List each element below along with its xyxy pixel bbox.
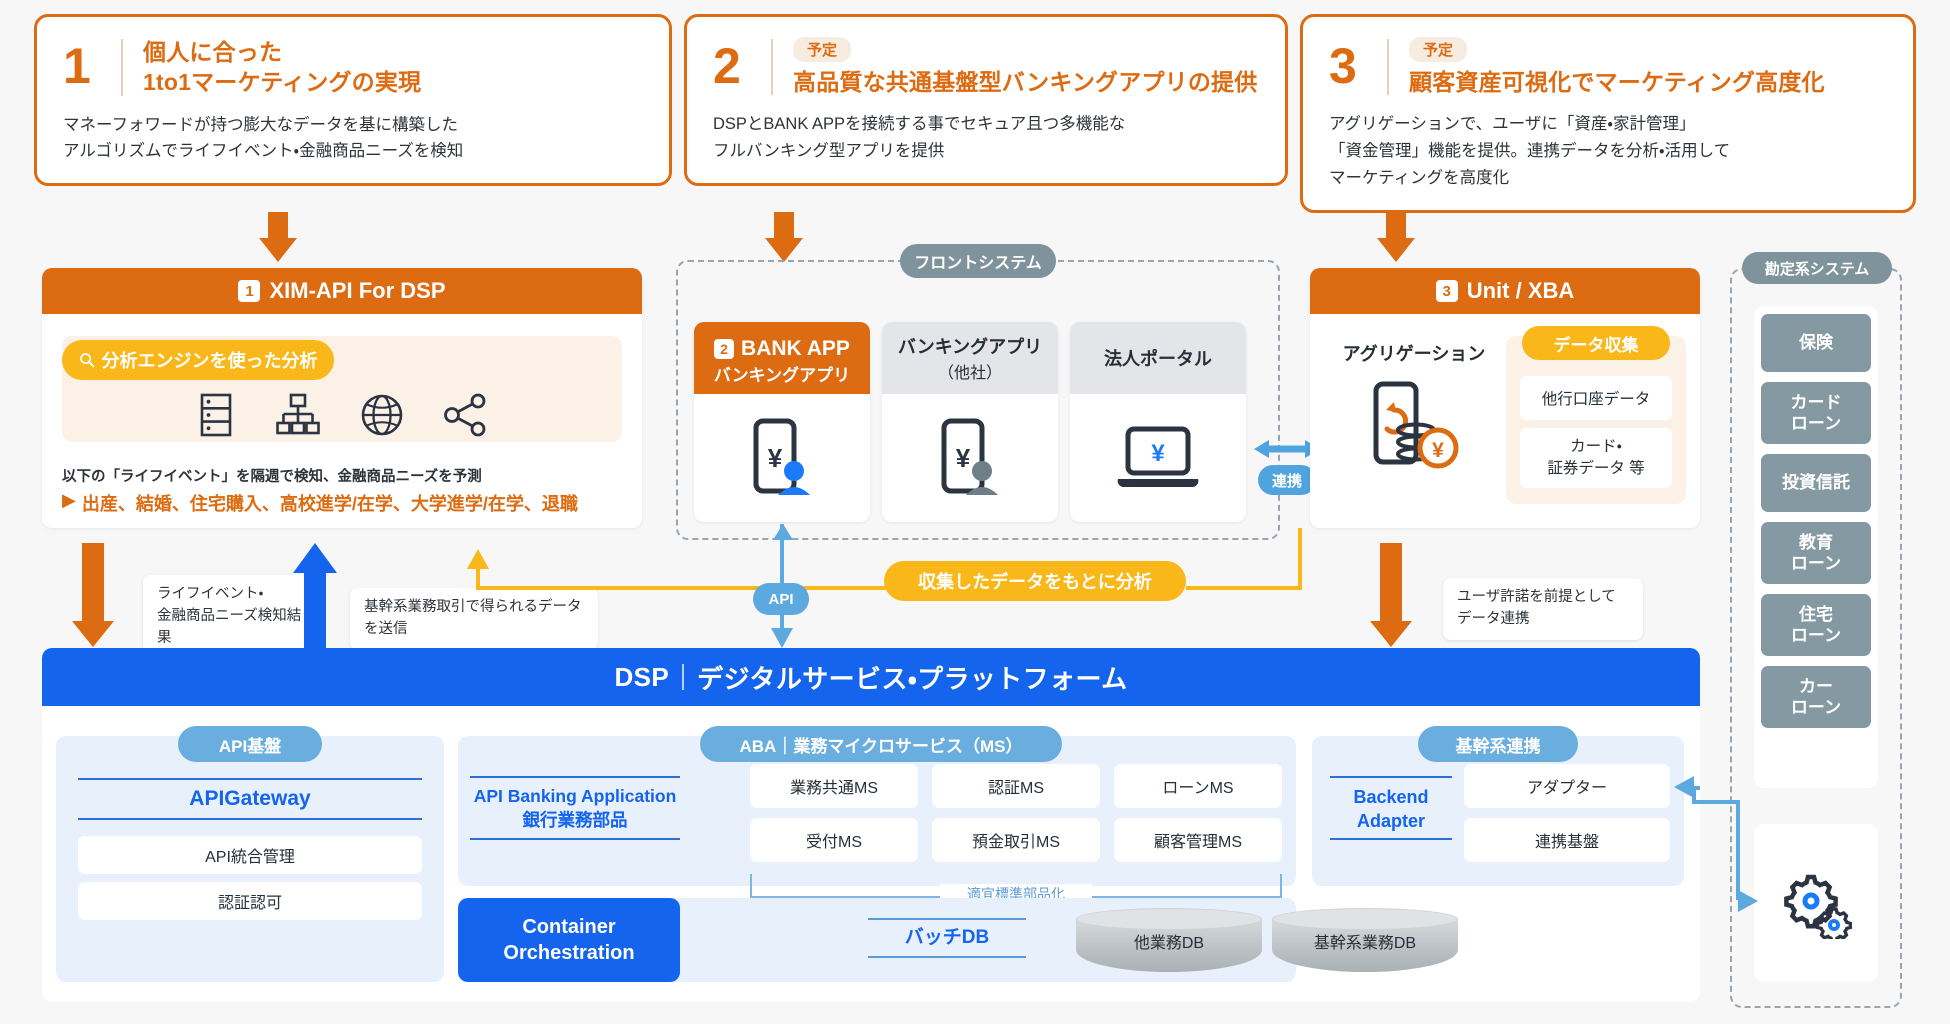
objective-card-2: 2 予定 高品質な共通基盤型バンキングアプリの提供 DSPとBANK APPを接… xyxy=(684,14,1288,186)
api-gateway-rule-top xyxy=(78,778,422,780)
backend-item-adapter: アダプター xyxy=(1464,764,1670,808)
svg-text:¥: ¥ xyxy=(1432,439,1444,462)
phone-coins-yen-icon: ¥ xyxy=(1368,380,1462,481)
data-collection-pill: データ収集 xyxy=(1522,326,1670,360)
card-divider xyxy=(771,39,773,95)
dsp-banner-title: デジタルサービス・プラットフォーム xyxy=(697,659,1127,696)
card-body: DSPとBANK APPを接続する事でセキュア且つ多機能な フルバンキング型アプ… xyxy=(713,111,1259,164)
core-system-label: 勘定系システム xyxy=(1742,252,1892,284)
api-arrowhead-icon xyxy=(771,628,793,648)
objective-card-3: 3 予定 顧客資産可視化でマーケティング高度化 アグリゲーションで、ユーザに「資… xyxy=(1300,14,1916,213)
aba-pill: ABA｜業務マイクロサービス（MS） xyxy=(700,726,1062,762)
card-header: 3 予定 顧客資産可視化でマーケティング高度化 xyxy=(1329,37,1887,97)
api-label-pill: API xyxy=(753,583,809,615)
backend-title-line2: Adapter xyxy=(1326,810,1456,833)
card-divider xyxy=(1387,39,1389,95)
aggregation-label: アグリゲーション xyxy=(1324,340,1504,366)
panel-number-chip: 3 xyxy=(1436,280,1458,302)
card-body: マネーフォワードが持つ膨大なデータを基に構築した アルゴリズムでライフイベント・… xyxy=(63,112,643,165)
arrow-card3-to-unit xyxy=(1373,212,1419,264)
ms-item-1: 認証MS xyxy=(932,764,1100,808)
app-subtitle: バンキングアプリ xyxy=(714,361,850,386)
card-number: 1 xyxy=(63,37,121,98)
card-status-badge: 予定 xyxy=(1409,37,1467,62)
core-item-education-loan[interactable]: 教育 ローン xyxy=(1761,522,1871,584)
app-card-bank-app[interactable]: 2 BANK APP バンキングアプリ ¥ xyxy=(694,322,870,522)
core-system-list: 保険 カード ローン 投資信託 教育 ローン 住宅 ローン カー ローン xyxy=(1754,306,1878,788)
app-card-header: バンキングアプリ （他社） xyxy=(882,322,1058,394)
batch-db-rule-top xyxy=(868,918,1026,920)
aba-title-ja: 銀行業務部品 xyxy=(466,810,684,832)
card-status-badge: 予定 xyxy=(793,37,851,62)
api-gateway-rule-bottom xyxy=(78,818,422,820)
app-card-header: 2 BANK APP バンキングアプリ xyxy=(694,322,870,394)
phone-yen-user-icon: ¥ xyxy=(932,417,1008,499)
dsp-banner: DSP デジタルサービス・プラットフォーム xyxy=(42,648,1700,706)
app-subtitle: （他社） xyxy=(938,359,1002,383)
backend-title-rule-bottom xyxy=(1330,838,1452,840)
ms-item-3: 受付MS xyxy=(750,818,918,862)
api-base-pill: API基盤 xyxy=(178,726,322,762)
svg-text:¥: ¥ xyxy=(1151,440,1165,467)
api-item-integration-mgmt: API統合管理 xyxy=(78,836,422,874)
share-nodes-icon xyxy=(443,392,489,438)
callout-user-consent: ユーザ許諾を前提として データ連携 xyxy=(1443,578,1643,640)
arrow-up-to-bankapp xyxy=(773,524,793,544)
api-item-auth: 認証認可 xyxy=(78,882,422,920)
yellow-arrowhead-icon xyxy=(467,549,489,569)
card-header: 2 予定 高品質な共通基盤型バンキングアプリの提供 xyxy=(713,37,1259,97)
card-title: 高品質な共通基盤型バンキングアプリの提供 xyxy=(793,67,1259,97)
card-body: アグリゲーションで、ユーザに「資産・家計管理」 「資金管理」機能を提供。連携デー… xyxy=(1329,111,1887,191)
backend-title-line1: Backend xyxy=(1326,786,1456,809)
database-label: 基幹系業務DB xyxy=(1272,929,1458,953)
phone-yen-user-icon: ¥ xyxy=(744,417,820,499)
backend-title-rule-top xyxy=(1330,776,1452,778)
objective-card-1: 1 個人に合った 1to1マーケティングの実現 マネーフォワードが持つ膨大なデー… xyxy=(34,14,672,186)
database-core-business: 基幹系業務DB xyxy=(1272,908,1458,972)
batch-db-rule-bottom xyxy=(868,956,1026,958)
collect-item-card-securities: カード・ 証券データ 等 xyxy=(1520,428,1672,488)
card-header: 1 個人に合った 1to1マーケティングの実現 xyxy=(63,37,643,98)
ms-item-0: 業務共通MS xyxy=(750,764,918,808)
arrow-unit-to-dsp xyxy=(1368,543,1414,650)
dsp-banner-divider xyxy=(682,664,684,690)
backend-arrowhead-icon xyxy=(1674,776,1694,798)
app-card-other-banking-app[interactable]: バンキングアプリ （他社） ¥ xyxy=(882,322,1058,522)
core-item-insurance[interactable]: 保険 xyxy=(1761,314,1871,372)
aba-title-rule-bottom xyxy=(470,838,680,840)
api-gateway-title: APIGateway xyxy=(78,786,422,812)
panel-title: Unit / XBA xyxy=(1467,278,1575,304)
container-title-line2: Orchestration xyxy=(503,940,634,966)
arrow-card2-to-bankapp xyxy=(761,212,807,264)
dsp-abbr: DSP xyxy=(614,662,669,693)
card-title: 個人に合った 1to1マーケティングの実現 xyxy=(143,37,643,98)
link-label: 連携 xyxy=(1258,465,1316,495)
batch-db-label: バッチDB xyxy=(868,926,1026,950)
xim-api-header: 1 XIM-API For DSP xyxy=(42,268,642,314)
core-item-card-loan[interactable]: カード ローン xyxy=(1761,382,1871,444)
card-divider xyxy=(121,39,123,96)
card-title: 顧客資産可視化でマーケティング高度化 xyxy=(1409,67,1887,97)
container-orchestration-box: Container Orchestration xyxy=(458,898,680,982)
svg-text:¥: ¥ xyxy=(956,443,971,473)
laptop-yen-icon: ¥ xyxy=(1114,423,1202,493)
core-item-investment-trust[interactable]: 投資信託 xyxy=(1761,454,1871,512)
panel-number-chip: 1 xyxy=(238,280,260,302)
unit-xba-header: 3 Unit / XBA xyxy=(1310,268,1700,314)
svg-text:¥: ¥ xyxy=(768,443,783,473)
database-label: 他業務DB xyxy=(1076,929,1262,953)
panel-title: XIM-API For DSP xyxy=(269,278,445,304)
analyze-collected-data-pill: 収集したデータをもとに分析 xyxy=(884,561,1186,601)
backend-item-link-base: 連携基盤 xyxy=(1464,818,1670,862)
gears-icon xyxy=(1780,867,1852,939)
app-card-header: 法人ポータル xyxy=(1070,322,1246,394)
app-title: BANK APP xyxy=(741,337,850,361)
analysis-engine-pill: 分析エンジンを使った分析 xyxy=(62,340,334,380)
arrow-xim-to-dsp xyxy=(70,543,116,650)
arrow-dsp-to-xim xyxy=(292,543,338,650)
container-title-line1: Container xyxy=(522,914,615,940)
life-event-note: 以下の「ライフイベント」を隔週で検知、金融商品ニーズを予測 xyxy=(62,465,626,486)
unit-xba-panel: 3 Unit / XBA アグリゲーション ¥ データ収集 他行 xyxy=(1310,268,1700,528)
xim-api-panel: 1 XIM-API For DSP 分析エンジンを使った分析 xyxy=(42,268,642,528)
yellow-connector-riser xyxy=(476,568,480,590)
triangle-marker-icon: ▶ xyxy=(62,490,76,516)
core-item-car-loan[interactable]: カー ローン xyxy=(1761,666,1871,728)
yellow-connector-right xyxy=(1186,586,1302,590)
core-system-gears-box xyxy=(1754,824,1878,982)
callout-core-tx-data: 基幹系業務取引で得られるデータを送信 xyxy=(350,588,598,650)
server-rack-icon xyxy=(195,392,237,438)
front-system-label: フロントシステム xyxy=(900,244,1056,278)
ms-item-5: 顧客管理MS xyxy=(1114,818,1282,862)
app-card-corporate-portal[interactable]: 法人ポータル ¥ xyxy=(1070,322,1246,522)
aba-title-rule-top xyxy=(470,776,680,778)
ms-item-4: 預金取引MS xyxy=(932,818,1100,862)
life-event-list: ▶ 出産、結婚、住宅購入、高校進学/在学、大学進学/在学、退職 xyxy=(62,490,626,516)
core-item-housing-loan[interactable]: 住宅 ローン xyxy=(1761,594,1871,656)
app-title: バンキングアプリ xyxy=(898,333,1042,359)
collect-item-other-bank-accounts: 他行口座データ xyxy=(1520,376,1672,420)
aba-title-en: API Banking Application xyxy=(466,786,684,808)
backend-feed-line xyxy=(1692,800,1740,804)
globe-icon xyxy=(359,392,405,438)
search-icon xyxy=(79,352,95,368)
ms-item-2: ローンMS xyxy=(1114,764,1282,808)
arrow-card1-to-xim xyxy=(255,212,301,264)
hierarchy-icon xyxy=(275,392,321,438)
yellow-connector-riser-right xyxy=(1298,528,1302,588)
core-to-backend-line-v xyxy=(1736,800,1740,900)
database-other-business: 他業務DB xyxy=(1076,908,1262,972)
app-number-chip: 2 xyxy=(714,339,734,359)
gears-arrowhead-icon xyxy=(1738,890,1758,912)
backend-pill: 基幹系連携 xyxy=(1418,726,1578,762)
app-title: 法人ポータル xyxy=(1104,345,1212,371)
card-number: 3 xyxy=(1329,37,1387,97)
card-number: 2 xyxy=(713,37,771,97)
